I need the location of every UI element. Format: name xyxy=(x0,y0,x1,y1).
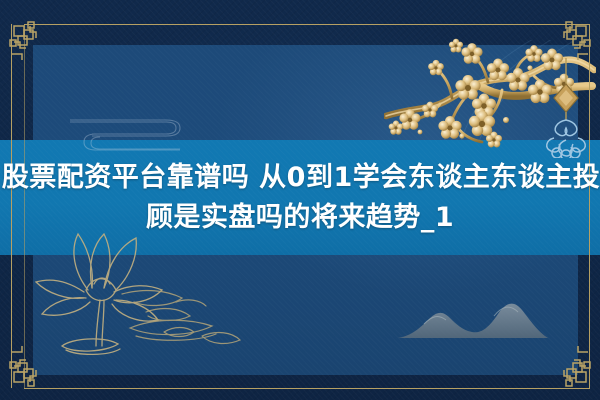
mountain-silhouette-icon xyxy=(398,290,548,340)
geometric-fret-corner-icon xyxy=(8,330,54,390)
title-line-2: 顾是实盘吗的将来趋势_1 xyxy=(146,198,454,238)
geometric-fret-corner-icon xyxy=(8,20,54,66)
frame-line-top xyxy=(24,24,590,25)
geometric-fret-corner-icon xyxy=(546,330,592,390)
title-line-1: 股票配资平台靠谱吗 从0到1学会东谈主东谈主投 xyxy=(0,158,600,198)
geometric-fret-corner-icon xyxy=(546,20,592,66)
banner-title: 股票配资平台靠谱吗 从0到1学会东谈主东谈主投 顾是实盘吗的将来趋势_1 xyxy=(0,140,600,255)
banner-canvas: 股票配资平台靠谱吗 从0到1学会东谈主东谈主投 顾是实盘吗的将来趋势_1 xyxy=(0,0,600,400)
frame-line-bottom xyxy=(24,388,590,389)
